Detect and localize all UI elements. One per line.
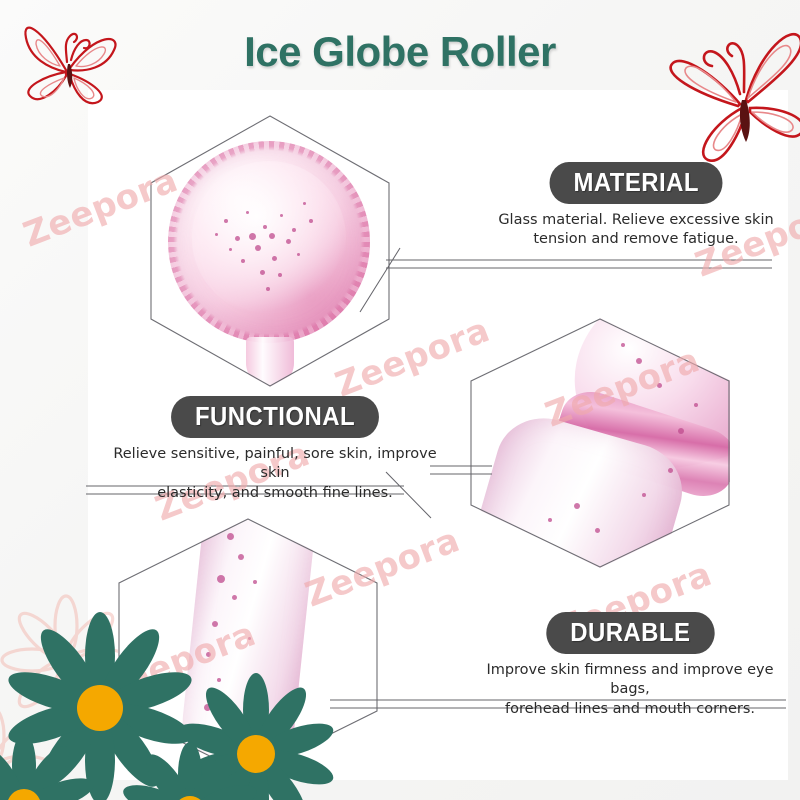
feature-description-durable: Improve skin firmness and improve eye ba… bbox=[470, 661, 790, 718]
globe-glitter bbox=[198, 171, 340, 313]
handle-shaft-tip bbox=[177, 518, 319, 776]
desc-line: Glass material. Relieve excessive skin bbox=[490, 211, 782, 230]
product-photo-globe-head bbox=[150, 115, 390, 387]
feature-label-durable: DURABLE bbox=[546, 612, 714, 654]
page-title: Ice Globe Roller bbox=[0, 28, 800, 76]
neck-photo-clip bbox=[470, 318, 730, 568]
desc-line: forehead lines and mouth corners. bbox=[470, 700, 790, 719]
globe-photo-clip bbox=[150, 115, 390, 387]
desc-line: tension and remove fatigue. bbox=[490, 230, 782, 249]
feature-functional: FUNCTIONAL Relieve sensitive, painful, s… bbox=[100, 396, 450, 503]
product-photo-neck-joint bbox=[470, 318, 730, 568]
desc-line: Relieve sensitive, painful, sore skin, i… bbox=[100, 445, 450, 483]
feature-description-functional: Relieve sensitive, painful, sore skin, i… bbox=[100, 445, 450, 502]
feature-description-material: Glass material. Relieve excessive skin t… bbox=[490, 211, 782, 249]
infographic-canvas: Zeepora Zeepora Zeepora Zeepora Zeepora … bbox=[0, 0, 800, 800]
feature-label-material: MATERIAL bbox=[549, 162, 722, 204]
desc-line: elasticity, and smooth fine lines. bbox=[100, 484, 450, 503]
feature-label-functional: FUNCTIONAL bbox=[171, 396, 379, 438]
handle-photo-clip bbox=[118, 518, 378, 776]
desc-line: Improve skin firmness and improve eye ba… bbox=[470, 661, 790, 699]
feature-material: MATERIAL Glass material. Relieve excessi… bbox=[490, 162, 782, 250]
globe-stem bbox=[246, 337, 294, 387]
feature-durable: DURABLE Improve skin firmness and improv… bbox=[470, 612, 790, 719]
product-photo-handle-tip bbox=[118, 518, 378, 776]
